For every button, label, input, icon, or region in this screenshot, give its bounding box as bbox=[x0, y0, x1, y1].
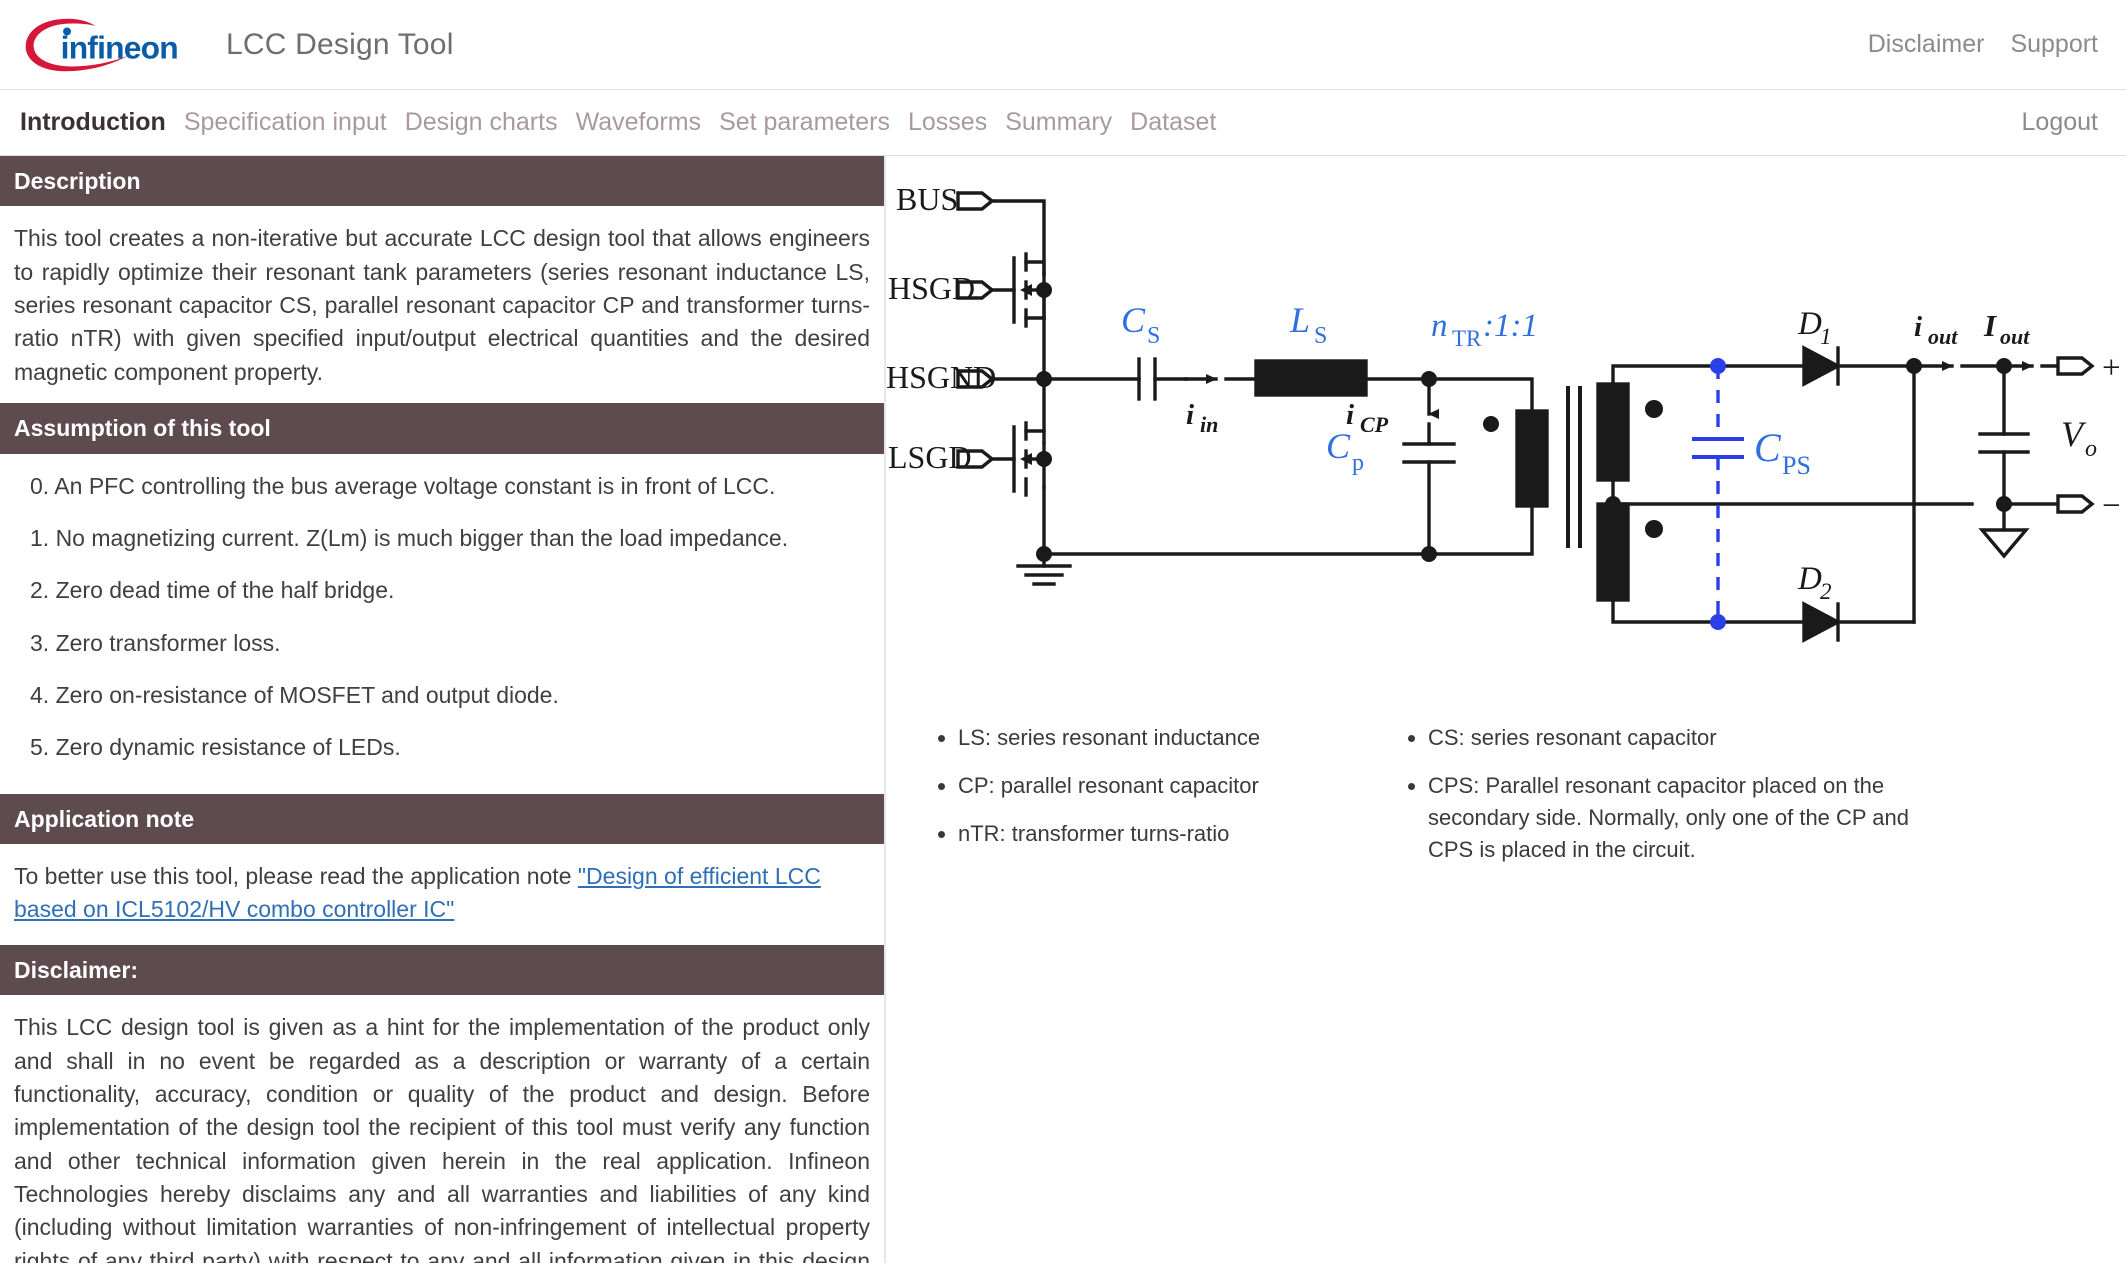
label-cs: C S bbox=[1121, 300, 1160, 349]
label-lsgd: LSGD bbox=[888, 439, 972, 475]
logout-link[interactable]: Logout bbox=[2022, 108, 2098, 137]
panel-disclaimer: Disclaimer: This LCC design tool is give… bbox=[0, 945, 884, 1263]
assumption-item-2: 2. Zero dead time of the half bridge. bbox=[30, 574, 870, 607]
schematic-text-labels: BUS HSGD HSGND LSGD C S L S bbox=[886, 181, 2121, 604]
label-output-minus: − bbox=[2102, 488, 2121, 524]
capacitor-cs bbox=[1044, 359, 1186, 399]
label-ls: L S bbox=[1289, 300, 1327, 349]
svg-text:2: 2 bbox=[1820, 579, 1832, 604]
label-hsgnd: HSGND bbox=[886, 359, 996, 395]
capacitor-output bbox=[1980, 366, 2028, 512]
svg-text:D: D bbox=[1797, 561, 1822, 597]
header-links: Disclaimer Support bbox=[1868, 30, 2098, 59]
label-iout: i out bbox=[1914, 311, 1958, 349]
panel-disclaimer-header: Disclaimer: bbox=[0, 945, 884, 995]
panel-disclaimer-body: This LCC design tool is given as a hint … bbox=[0, 995, 884, 1263]
label-output-plus: + bbox=[2102, 350, 2121, 386]
capacitor-cp bbox=[1036, 371, 1454, 562]
label-bus: BUS bbox=[896, 181, 958, 217]
nav-tabs: Introduction Specification input Design … bbox=[20, 108, 1216, 137]
svg-text:CP: CP bbox=[1360, 412, 1389, 437]
panel-description-header: Description bbox=[0, 156, 884, 206]
label-iin: i in bbox=[1186, 399, 1218, 437]
legend-item-cs: CS: series resonant capacitor bbox=[1428, 722, 1956, 754]
svg-text:out: out bbox=[2000, 324, 2030, 349]
description-text: This tool creates a non-iterative but ac… bbox=[14, 222, 870, 389]
assumption-item-3: 3. Zero transformer loss. bbox=[30, 627, 870, 660]
svg-text:in: in bbox=[1200, 412, 1218, 437]
legend-item-ntr: nTR: transformer turns-ratio bbox=[958, 818, 1396, 850]
inductor-ls bbox=[1256, 361, 1429, 395]
main-nav: Introduction Specification input Design … bbox=[0, 90, 2126, 156]
label-cps: C PS bbox=[1754, 425, 1811, 480]
lcc-schematic-svg: BUS HSGD HSGND LSGD C S L S bbox=[886, 156, 2122, 716]
assumption-item-0: 0. An PFC controlling the bus average vo… bbox=[30, 470, 870, 503]
panel-assumption: Assumption of this tool 0. An PFC contro… bbox=[0, 403, 884, 794]
ground-secondary bbox=[1982, 504, 2026, 556]
label-vo: V o bbox=[2061, 414, 2097, 462]
app-header: infineon LCC Design Tool Disclaimer Supp… bbox=[0, 0, 2126, 90]
assumption-item-1: 1. No magnetizing current. Z(Lm) is much… bbox=[30, 522, 870, 555]
header-link-disclaimer[interactable]: Disclaimer bbox=[1868, 30, 1985, 59]
svg-text:n: n bbox=[1431, 308, 1448, 344]
label-Iout: I out bbox=[1983, 308, 2030, 349]
infineon-logo[interactable]: infineon bbox=[22, 14, 182, 76]
transformer-primary bbox=[1429, 379, 1547, 554]
disclaimer-text: This LCC design tool is given as a hint … bbox=[14, 1011, 870, 1263]
svg-text:L: L bbox=[1289, 300, 1310, 340]
schematic-legend: LS: series resonant inductance CP: paral… bbox=[886, 722, 2126, 882]
content-area: Description This tool creates a non-iter… bbox=[0, 156, 2126, 1263]
panel-application-note-header: Application note bbox=[0, 794, 884, 844]
lcc-circuit-diagram: BUS HSGD HSGND LSGD C S L S bbox=[886, 156, 2126, 716]
legend-item-cps: CPS: Parallel resonant capacitor placed … bbox=[1428, 770, 1956, 866]
label-cp: C p bbox=[1326, 426, 1364, 476]
assumption-item-5: 5. Zero dynamic resistance of LEDs. bbox=[30, 731, 870, 764]
svg-text:out: out bbox=[1928, 324, 1958, 349]
application-note-intro: To better use this tool, please read the… bbox=[14, 863, 578, 889]
output-rail bbox=[1914, 358, 2058, 374]
tab-set-parameters[interactable]: Set parameters bbox=[719, 108, 890, 137]
label-hsgd: HSGD bbox=[888, 270, 975, 306]
legend-column-left: LS: series resonant inductance CP: paral… bbox=[926, 722, 1396, 882]
application-note-text: To better use this tool, please read the… bbox=[14, 860, 870, 927]
transformer-secondary bbox=[1598, 366, 1972, 622]
panel-application-note-body: To better use this tool, please read the… bbox=[0, 844, 884, 945]
transformer-core bbox=[1568, 388, 1580, 546]
tab-specification-input[interactable]: Specification input bbox=[184, 108, 387, 137]
svg-text:C: C bbox=[1121, 300, 1146, 340]
schematic-wires bbox=[958, 193, 2092, 640]
panel-description-body: This tool creates a non-iterative but ac… bbox=[0, 206, 884, 403]
svg-text:o: o bbox=[2085, 436, 2097, 462]
svg-text:S: S bbox=[1314, 323, 1327, 349]
tab-waveforms[interactable]: Waveforms bbox=[576, 108, 701, 137]
tab-summary[interactable]: Summary bbox=[1005, 108, 1112, 137]
legend-column-right: CS: series resonant capacitor CPS: Paral… bbox=[1396, 722, 1956, 882]
capacitor-cps bbox=[1692, 358, 1744, 630]
legend-item-ls: LS: series resonant inductance bbox=[958, 722, 1396, 754]
svg-text:D: D bbox=[1797, 306, 1822, 342]
diode-d1 bbox=[1804, 348, 1922, 384]
tab-introduction[interactable]: Introduction bbox=[20, 108, 166, 137]
svg-text:I: I bbox=[1983, 308, 1997, 343]
panel-assumption-body: 0. An PFC controlling the bus average vo… bbox=[0, 454, 884, 794]
secondary-rails bbox=[1718, 366, 1804, 622]
legend-item-cp: CP: parallel resonant capacitor bbox=[958, 770, 1396, 802]
svg-text:S: S bbox=[1147, 323, 1160, 349]
label-ntr: n TR :1:1 bbox=[1431, 308, 1538, 351]
header-link-support[interactable]: Support bbox=[2010, 30, 2098, 59]
right-diagram-column: BUS HSGD HSGND LSGD C S L S bbox=[886, 156, 2126, 1263]
svg-text::1:1: :1:1 bbox=[1483, 308, 1538, 344]
svg-text:1: 1 bbox=[1820, 324, 1832, 349]
pin-output-negative bbox=[2004, 496, 2092, 512]
pin-output-positive bbox=[2058, 358, 2092, 374]
svg-text:PS: PS bbox=[1782, 451, 1811, 480]
label-d1: D 1 bbox=[1797, 306, 1832, 349]
panel-application-note: Application note To better use this tool… bbox=[0, 794, 884, 945]
svg-text:C: C bbox=[1754, 425, 1782, 470]
panel-description: Description This tool creates a non-iter… bbox=[0, 156, 884, 403]
tab-losses[interactable]: Losses bbox=[908, 108, 987, 137]
svg-text:infineon: infineon bbox=[61, 29, 178, 65]
svg-text:V: V bbox=[2061, 414, 2087, 454]
svg-text:TR: TR bbox=[1452, 326, 1482, 351]
panel-assumption-header: Assumption of this tool bbox=[0, 403, 884, 453]
svg-text:i: i bbox=[1914, 311, 1922, 343]
left-info-column: Description This tool creates a non-iter… bbox=[0, 156, 886, 1263]
page-title: LCC Design Tool bbox=[226, 28, 454, 62]
label-icp: i CP bbox=[1346, 399, 1389, 437]
assumption-list: 0. An PFC controlling the bus average vo… bbox=[14, 470, 870, 765]
assumption-item-4: 4. Zero on-resistance of MOSFET and outp… bbox=[30, 679, 870, 712]
svg-text:p: p bbox=[1352, 450, 1364, 476]
tab-dataset[interactable]: Dataset bbox=[1130, 108, 1216, 137]
svg-text:C: C bbox=[1326, 426, 1351, 466]
mosfet-low-side bbox=[1014, 423, 1044, 554]
label-d2: D 2 bbox=[1797, 561, 1832, 604]
tab-design-charts[interactable]: Design charts bbox=[405, 108, 558, 137]
svg-text:i: i bbox=[1186, 399, 1194, 431]
